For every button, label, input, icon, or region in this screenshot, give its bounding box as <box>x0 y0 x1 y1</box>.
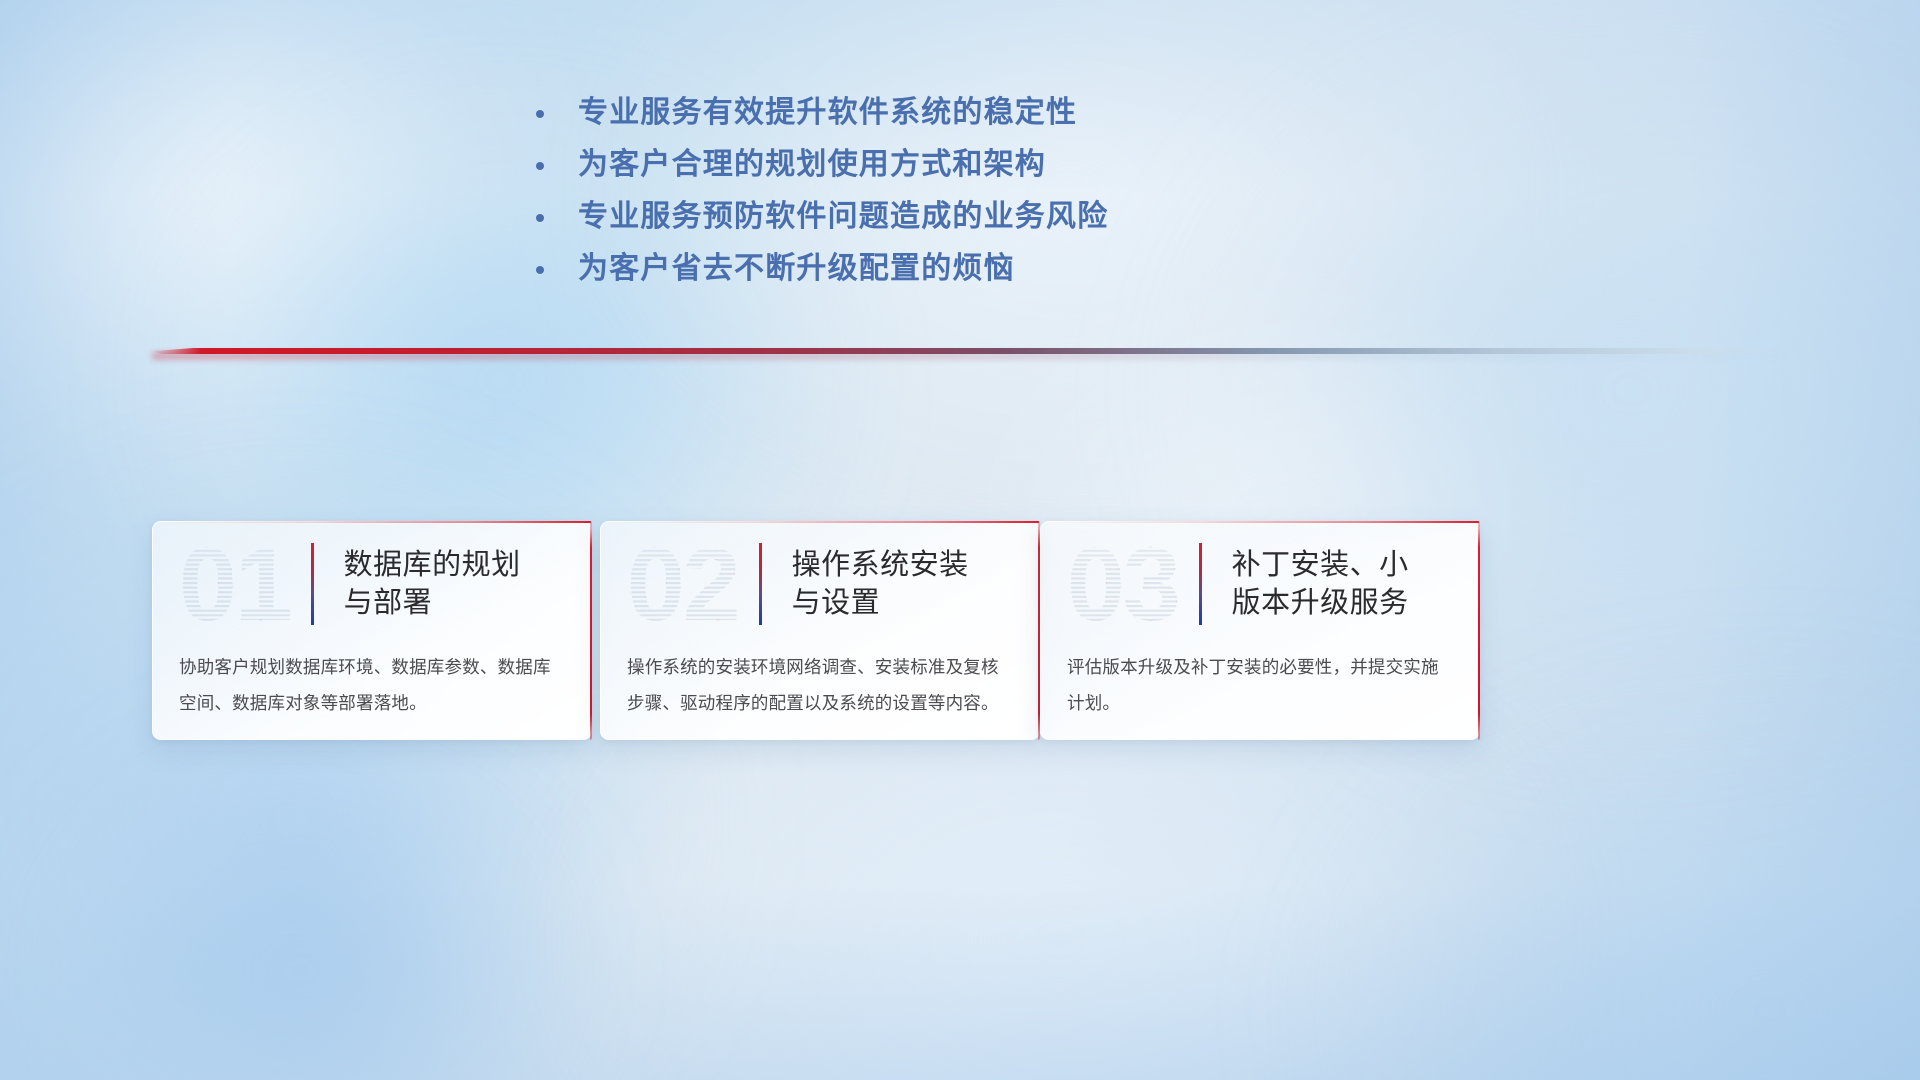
bullet-text: 为客户省去不断升级配置的烦恼 <box>578 252 1015 285</box>
card-title-divider <box>1199 543 1202 625</box>
card-body-text: 操作系统的安装环境网络调查、安装标准及复核步骤、驱动程序的配置以及系统的设置等内… <box>627 650 1013 722</box>
list-item: 专业服务有效提升软件系统的稳定性 <box>536 86 1108 138</box>
feature-card[interactable]: 01 01 数据库的规划 与部署 协助客户规划数据库环境、数据库参数、数据库空间… <box>152 521 592 740</box>
list-item: 为客户合理的规划使用方式和架构 <box>536 138 1108 190</box>
card-body-text: 评估版本升级及补丁安装的必要性，并提交实施计划。 <box>1067 650 1453 722</box>
card-body-text: 协助客户规划数据库环境、数据库参数、数据库空间、数据库对象等部署落地。 <box>179 650 565 722</box>
bullet-dot-icon <box>536 110 544 118</box>
svg-text:01: 01 <box>179 536 291 632</box>
bullet-list: 专业服务有效提升软件系统的稳定性 为客户合理的规划使用方式和架构 专业服务预防软… <box>536 86 1108 294</box>
card-title-divider <box>311 543 314 625</box>
bullet-text: 专业服务预防软件问题造成的业务风险 <box>578 200 1108 233</box>
bullet-text: 专业服务有效提升软件系统的稳定性 <box>578 96 1077 129</box>
card-title: 操作系统安装 与设置 <box>792 546 969 623</box>
card-title: 数据库的规划 与部署 <box>344 546 521 623</box>
bullet-text: 为客户合理的规划使用方式和架构 <box>578 148 1046 181</box>
feature-card[interactable]: 03 03 补丁安装、小 版本升级服务 评估版本升级及补丁安装的必要性，并提交实… <box>1040 521 1480 740</box>
section-divider <box>152 344 1792 360</box>
bullet-dot-icon <box>536 266 544 274</box>
divider-line <box>152 348 1792 354</box>
card-header: 03 03 补丁安装、小 版本升级服务 <box>1041 522 1479 646</box>
feature-card[interactable]: 02 02 操作系统安装 与设置 操作系统的安装环境网络调查、安装标准及复核步骤… <box>600 521 1040 740</box>
card-title: 补丁安装、小 版本升级服务 <box>1232 546 1409 623</box>
card-header: 01 01 数据库的规划 与部署 <box>153 522 591 646</box>
list-item: 专业服务预防软件问题造成的业务风险 <box>536 190 1108 242</box>
svg-text:02: 02 <box>627 536 739 632</box>
card-number-02: 02 02 <box>625 536 753 632</box>
bullet-dot-icon <box>536 214 544 222</box>
bullet-dot-icon <box>536 162 544 170</box>
card-header: 02 02 操作系统安装 与设置 <box>601 522 1039 646</box>
list-item: 为客户省去不断升级配置的烦恼 <box>536 242 1108 294</box>
card-number-03: 03 03 <box>1065 536 1193 632</box>
card-number-01: 01 01 <box>177 536 305 632</box>
svg-text:03: 03 <box>1067 536 1179 632</box>
card-title-divider <box>759 543 762 625</box>
